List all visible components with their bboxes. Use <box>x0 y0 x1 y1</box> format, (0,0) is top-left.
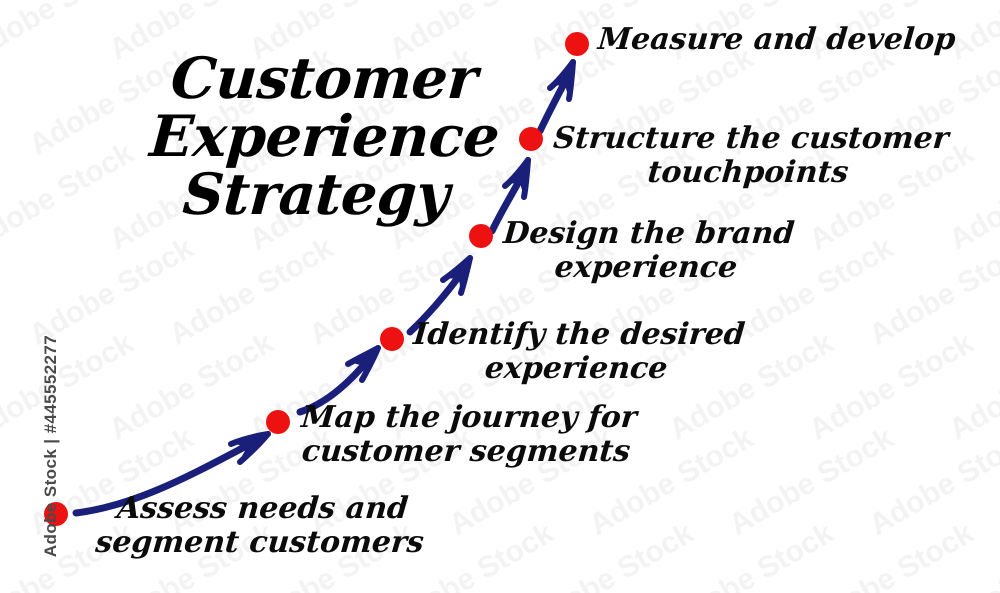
step-label-3: Identify the desired experience <box>409 318 746 385</box>
step-node-2[interactable] <box>266 410 290 434</box>
step-label-5: Structure the customer touchpoints <box>549 122 950 189</box>
page-title: Customer Experience Strategy <box>144 50 496 224</box>
step-node-3[interactable] <box>380 327 404 351</box>
step-label-1: Assess needs and segment customers <box>94 492 428 559</box>
step-node-4[interactable] <box>469 224 493 248</box>
step-node-5[interactable] <box>519 127 543 151</box>
step-label-2: Map the journey for customer segments <box>297 401 638 468</box>
step-node-6[interactable] <box>565 32 589 56</box>
step-label-4: Design the brand experience <box>499 217 796 284</box>
stock-id-watermark: Adobe Stock | #445552277 <box>41 316 61 576</box>
diagram-canvas: Adobe StockAdobe StockAdobe StockAdobe S… <box>0 0 1000 593</box>
step-label-6: Measure and develop <box>597 23 957 57</box>
